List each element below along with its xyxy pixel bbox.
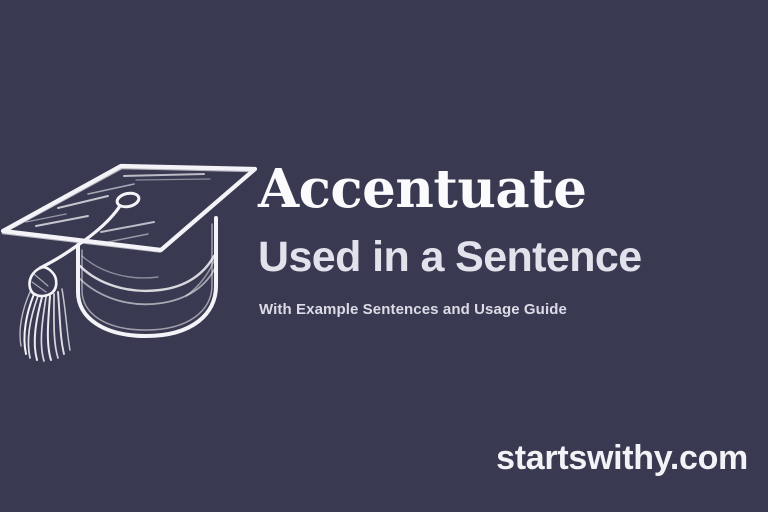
graduation-cap-sketch-icon [0,146,264,372]
page-title-word: Accentuate [258,160,754,218]
headline-block: Accentuate Used in a Sentence With Examp… [258,160,754,320]
brand-watermark: startswithy.com [496,438,748,478]
page-subtitle-heading: Used in a Sentence [258,232,754,282]
page-description: With Example Sentences and Usage Guide [259,300,754,320]
poster-canvas: Accentuate Used in a Sentence With Examp… [0,0,768,512]
